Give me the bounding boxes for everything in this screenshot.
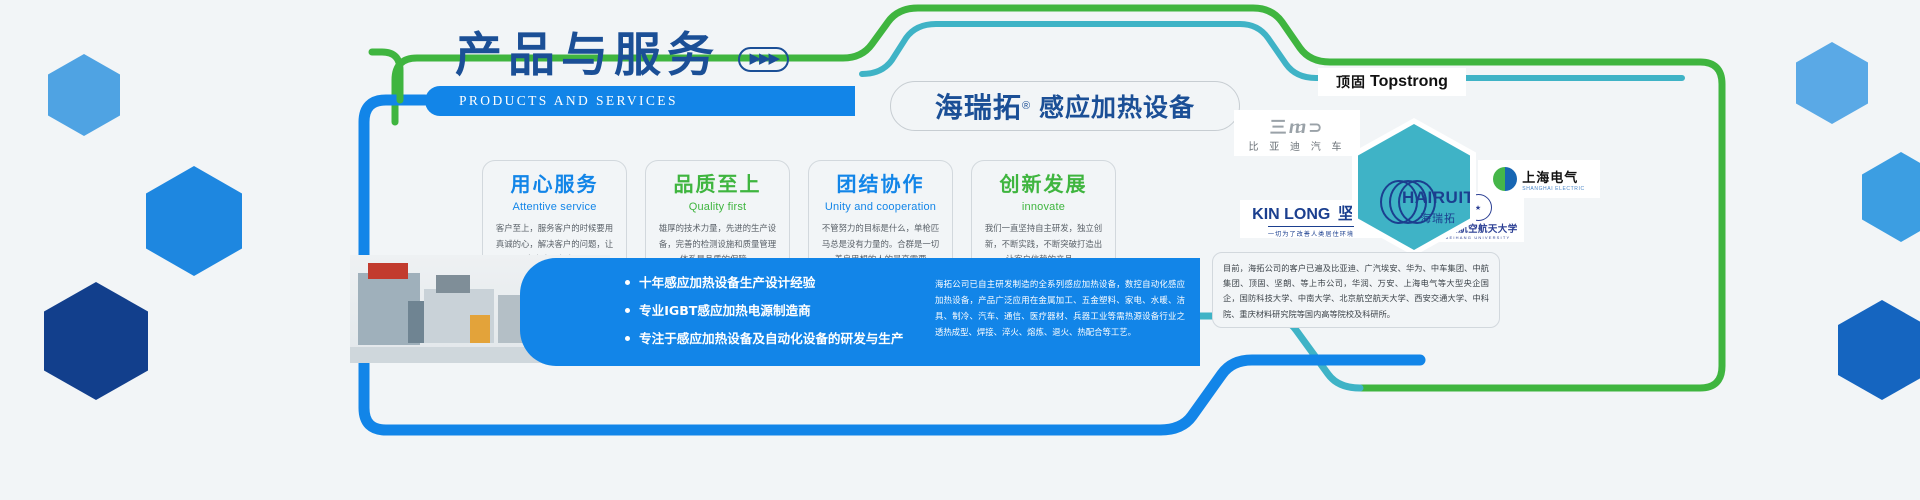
- value-card-title-cn: 团结协作: [820, 174, 941, 195]
- value-card[interactable]: 团结协作 Unity and cooperation 不管努力的目标是什么，单枪…: [808, 160, 953, 272]
- logo-shanghai-en: SHANGHAI ELECTRIC: [1522, 186, 1584, 192]
- value-card-title-en: Quality first: [657, 201, 778, 213]
- feature-bullet-list: 十年感应加热设备生产设计经验 专业IGBT感应加热电源制造商 专注于感应加热设备…: [625, 274, 915, 358]
- customer-summary-card: 目前，海拓公司的客户已遍及比亚迪、广汽埃安、华为、中车集团、中航集团、顶固、坚朗…: [1212, 252, 1500, 328]
- feature-bullet: 专注于感应加热设备及自动化设备的研发与生产: [625, 330, 915, 349]
- logo-byd-cn: 比 亚 迪 汽 车: [1248, 138, 1345, 153]
- value-card-title-en: innovate: [983, 201, 1104, 213]
- logo-byd: 三ⴊ⊃ 比 亚 迪 汽 车: [1234, 110, 1360, 156]
- value-card[interactable]: 创新发展 innovate 我们一直坚持自主研发，独立创新，不断实践，不断突破打…: [971, 160, 1116, 272]
- logo-byd-mark: 三ⴊ⊃: [1270, 113, 1325, 138]
- logo-kinlong-en: KIN LONG: [1252, 206, 1330, 223]
- value-card-title-cn: 创新发展: [983, 174, 1104, 195]
- page-subtitle-en: PRODUCTS AND SERVICES: [459, 93, 678, 109]
- customer-summary-text: 目前，海拓公司的客户已遍及比亚迪、广汽埃安、华为、中车集团、中航集团、顶固、坚朗…: [1223, 261, 1489, 322]
- subtitle-bar: PRODUCTS AND SERVICES: [425, 86, 855, 116]
- page-title-cn: 产品与服务: [455, 32, 720, 79]
- arrows-badge: ▶▶▶: [738, 47, 789, 72]
- value-card-title-cn: 品质至上: [657, 174, 778, 195]
- logo-buaa-en: BEIHANG UNIVERSITY: [1446, 235, 1511, 240]
- logo-kinlong-slogan: 一切为了改善人类居住环境: [1268, 226, 1354, 238]
- poster-canvas: 产品与服务 ▶▶▶ PRODUCTS AND SERVICES 海瑞拓® 感应加…: [0, 0, 1920, 500]
- brand-badge: 海瑞拓® 感应加热设备: [890, 81, 1240, 131]
- logo-shanghai-cn: 上海电气: [1522, 167, 1584, 186]
- brand-tagline-cn: 感应加热设备: [1039, 88, 1195, 124]
- feature-bullet: 十年感应加热设备生产设计经验: [625, 274, 915, 293]
- value-card-title-en: Unity and cooperation: [820, 201, 941, 213]
- logo-topstrong-en: Topstrong: [1370, 73, 1448, 91]
- value-card-title-en: Attentive service: [494, 201, 615, 213]
- logo-topstrong: 顶固 Topstrong: [1318, 68, 1466, 96]
- page-title: 产品与服务 ▶▶▶: [455, 32, 789, 79]
- brand-name-cn: 海瑞拓: [935, 86, 1022, 126]
- feature-paragraph: 海拓公司已自主研发制造的全系列感应加热设备，数控自动化感应加热设备，产品广泛应用…: [935, 276, 1185, 341]
- logo-topstrong-cn: 顶固: [1336, 72, 1366, 92]
- feature-bullet: 专业IGBT感应加热电源制造商: [625, 302, 915, 321]
- shanghai-electric-badge-icon: [1493, 167, 1517, 191]
- feature-panel: 十年感应加热设备生产设计经验 专业IGBT感应加热电源制造商 专注于感应加热设备…: [520, 258, 1200, 366]
- value-card-title-cn: 用心服务: [494, 174, 615, 195]
- logo-hairuituo-cn: 海瑞拓: [1420, 210, 1456, 226]
- registered-trademark-icon: ®: [1022, 100, 1030, 112]
- value-card[interactable]: 品质至上 Quality first 雄厚的技术力量，先进的生产设备，完善的检测…: [645, 160, 790, 272]
- triple-arrow-icon: ▶▶▶: [749, 50, 778, 67]
